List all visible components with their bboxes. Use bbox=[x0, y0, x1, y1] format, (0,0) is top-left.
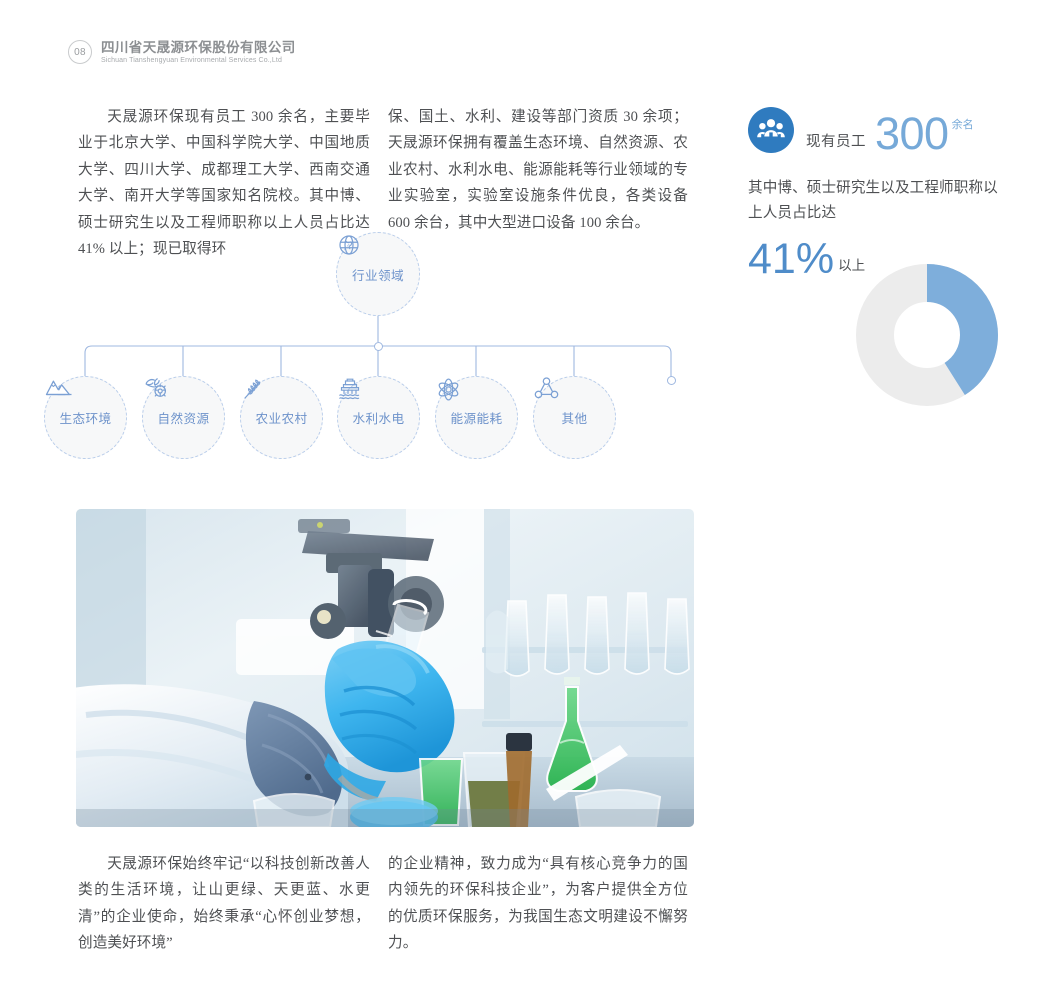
employee-stats-panel: 现有员工 300 余名 其中博、硕士研究生以及工程师职称以上人员占比达 41% … bbox=[748, 104, 1006, 281]
page-header: 08 四川省天晟源环保股份有限公司 Sichuan Tianshengyuan … bbox=[68, 40, 296, 65]
body-paragraph-column-3: 天晟源环保始终牢记“以科技创新改善人类的生活环境，让山更绿、天更蓝、水更清”的企… bbox=[78, 851, 370, 957]
company-name-en: Sichuan Tianshengyuan Environmental Serv… bbox=[101, 57, 296, 65]
tree-joint-leaf bbox=[667, 376, 676, 385]
tree-node-natural-resources[interactable]: 自然资源 bbox=[142, 376, 225, 459]
tree-node-root-label: 行业领域 bbox=[352, 270, 404, 283]
laboratory-photo bbox=[76, 509, 694, 827]
page-number-badge: 08 bbox=[68, 40, 92, 64]
tree-joint-root bbox=[374, 342, 383, 351]
tree-node-label: 其他 bbox=[562, 413, 588, 426]
tree-node-label: 农业农村 bbox=[256, 413, 308, 426]
employee-count-unit: 余名 bbox=[952, 116, 974, 132]
employee-label: 现有员工 bbox=[806, 130, 866, 151]
body-paragraph-column-2: 保、国土、水利、建设等部门资质 30 余项；天晟源环保拥有覆盖生态环境、自然资源… bbox=[388, 104, 688, 236]
tree-node-ecology[interactable]: 生态环境 bbox=[44, 376, 127, 459]
tree-node-hydropower[interactable]: 水利水电 bbox=[337, 376, 420, 459]
paragraph-text: 天晟源环保始终牢记“以科技创新改善人类的生活环境，让山更绿、天更蓝、水更清”的企… bbox=[78, 851, 370, 957]
ratio-percentage: 41% bbox=[748, 238, 834, 281]
employee-count-value: 300 bbox=[875, 111, 949, 156]
ratio-description: 其中博、硕士研究生以及工程师职称以上人员占比达 bbox=[748, 176, 1000, 226]
tree-node-label: 自然资源 bbox=[158, 413, 210, 426]
company-name-cn: 四川省天晟源环保股份有限公司 bbox=[101, 40, 296, 56]
employee-count-text: 现有员工 300 余名 bbox=[806, 108, 973, 153]
ratio-donut-chart bbox=[856, 264, 998, 406]
tree-node-energy[interactable]: 能源能耗 bbox=[435, 376, 518, 459]
tree-node-label: 水利水电 bbox=[353, 413, 405, 426]
people-group-icon bbox=[748, 107, 794, 153]
tree-node-other[interactable]: 其他 bbox=[533, 376, 616, 459]
company-titles: 四川省天晟源环保股份有限公司 Sichuan Tianshengyuan Env… bbox=[101, 40, 296, 65]
tree-node-agriculture[interactable]: 农业农村 bbox=[240, 376, 323, 459]
body-paragraph-column-4: 的企业精神，致力成为“具有核心竞争力的国内领先的环保科技企业”，为客户提供全方位… bbox=[388, 851, 688, 957]
tree-node-label: 能源能耗 bbox=[451, 413, 503, 426]
tree-node-root[interactable]: 行业领域 bbox=[336, 232, 420, 316]
brochure-page: 08 四川省天晟源环保股份有限公司 Sichuan Tianshengyuan … bbox=[0, 0, 1058, 982]
tree-node-label: 生态环境 bbox=[60, 413, 112, 426]
paragraph-text: 的企业精神，致力成为“具有核心竞争力的国内领先的环保科技企业”，为客户提供全方位… bbox=[388, 851, 688, 957]
paragraph-text: 保、国土、水利、建设等部门资质 30 余项；天晟源环保拥有覆盖生态环境、自然资源… bbox=[388, 104, 688, 236]
industry-fields-tree: 行业领域 生态环境 bbox=[78, 232, 688, 472]
employee-count-row: 现有员工 300 余名 bbox=[748, 104, 1006, 156]
